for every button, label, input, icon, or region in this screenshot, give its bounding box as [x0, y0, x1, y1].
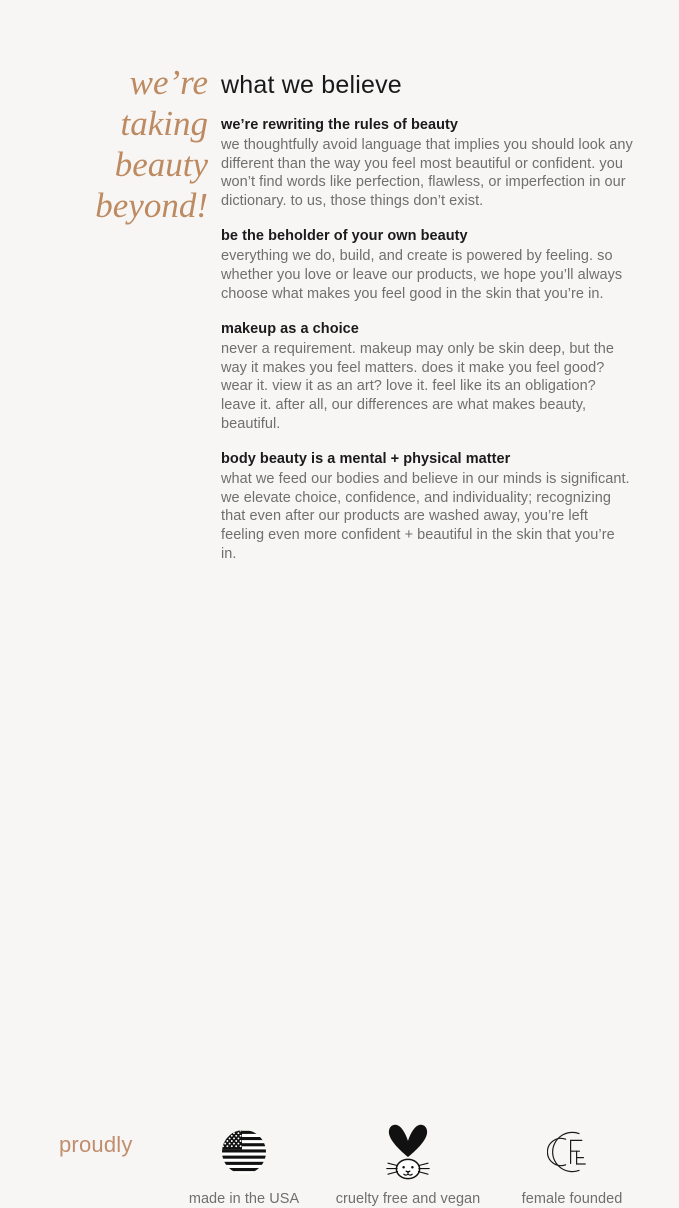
female-founded-monogram-icon	[498, 1122, 646, 1182]
main-content: we’re taking beauty beyond! what we beli…	[0, 0, 679, 560]
belief-section-makeup-choice: makeup as a choice never a requirement. …	[221, 320, 633, 433]
badge-strip: proudly	[0, 556, 679, 679]
belief-section-beholder: be the beholder of your own beauty every…	[221, 227, 633, 303]
section-heading: be the beholder of your own beauty	[221, 227, 633, 246]
belief-statement-page: we’re taking beauty beyond! what we beli…	[0, 0, 679, 679]
section-body: we thoughtfully avoid language that impl…	[221, 136, 633, 210]
usa-flag-circle-icon	[170, 1122, 318, 1182]
section-body: never a requirement. makeup may only be …	[221, 340, 633, 433]
cruelty-free-bunny-heart-icon	[330, 1122, 486, 1182]
believe-column: what we believe we’re rewriting the rule…	[221, 70, 633, 563]
headline-line-3: beauty	[44, 144, 208, 185]
badge-label: female founded	[498, 1190, 646, 1208]
proudly-label: proudly	[59, 1132, 133, 1158]
badge-female-founded: female founded	[498, 1122, 646, 1208]
badge-label: made in the USA	[170, 1190, 318, 1208]
brand-headline: we’re taking beauty beyond!	[44, 62, 208, 226]
headline-line-1: we’re	[44, 62, 208, 103]
section-heading: we’re rewriting the rules of beauty	[221, 116, 633, 135]
badge-made-in-usa: made in the USA	[170, 1122, 318, 1208]
headline-line-4: beyond!	[44, 185, 208, 226]
section-body: everything we do, build, and create is p…	[221, 247, 633, 303]
section-heading: body beauty is a mental + physical matte…	[221, 450, 633, 469]
badge-label: cruelty free and vegan	[330, 1190, 486, 1208]
page-title: what we believe	[221, 70, 633, 100]
section-heading: makeup as a choice	[221, 320, 633, 339]
headline-line-2: taking	[44, 103, 208, 144]
section-body: what we feed our bodies and believe in o…	[221, 470, 633, 563]
belief-section-rewriting-rules: we’re rewriting the rules of beauty we t…	[221, 116, 633, 210]
belief-section-body-beauty: body beauty is a mental + physical matte…	[221, 450, 633, 563]
badge-cruelty-free-vegan: cruelty free and vegan	[330, 1122, 486, 1208]
